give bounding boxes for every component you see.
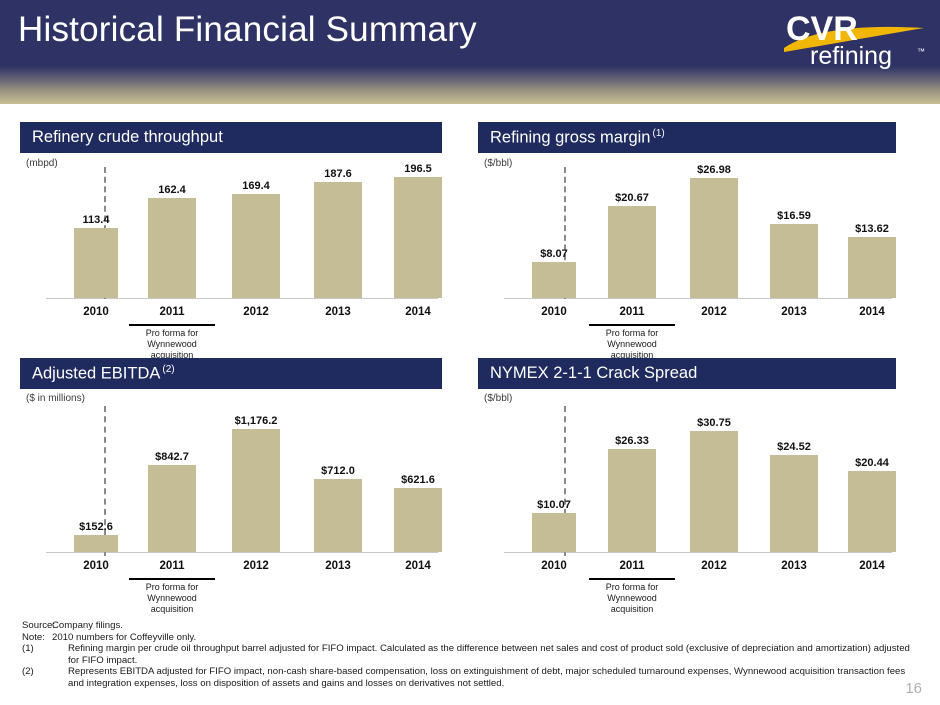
bar-value-label: $20.67 — [615, 192, 649, 204]
proforma-line: Pro forma for — [129, 328, 215, 339]
footnote-row: (1) Refining margin per crude oil throug… — [22, 643, 922, 666]
bar — [74, 228, 118, 298]
bar-group: $621.6 2014 — [378, 396, 458, 552]
category-label: 2014 — [405, 306, 431, 318]
proforma-line: Wynnewood — [129, 593, 215, 604]
bar-group: $26.98 2012 — [674, 160, 754, 298]
proforma-line: Wynnewood — [589, 339, 675, 350]
proforma-note: Pro forma for Wynnewood acquisition — [589, 578, 675, 615]
category-label: 2010 — [83, 560, 109, 572]
proforma-line: Pro forma for — [129, 582, 215, 593]
proforma-line: Wynnewood — [589, 593, 675, 604]
bar-value-label: $621.6 — [401, 474, 435, 486]
proforma-line: acquisition — [129, 604, 215, 615]
bar — [690, 178, 738, 298]
footnote-text: 2010 numbers for Coffeyville only. — [52, 632, 922, 644]
category-label: 2013 — [325, 306, 351, 318]
category-label: 2013 — [325, 560, 351, 572]
bar-value-label: $152.6 — [79, 521, 113, 533]
bar-group: $13.62 2014 — [832, 160, 912, 298]
svg-text:refining: refining — [810, 42, 892, 70]
category-label: 2010 — [83, 306, 109, 318]
chart-nymex-crack-spread: $10.07 2010 $26.33 2011 Pro forma for Wy… — [478, 396, 896, 596]
footnote-label: Note: — [22, 632, 52, 644]
proforma-line: Pro forma for — [589, 328, 675, 339]
bar-group: $842.7 2011 Pro forma for Wynnewood acqu… — [132, 396, 212, 552]
panel-title-refinery-crude-throughput: Refinery crude throughput — [20, 122, 442, 153]
chart-adjusted-ebitda: $152.6 2010 $842.7 2011 Pro forma for Wy… — [20, 396, 442, 596]
header-gradient-band — [0, 66, 940, 104]
bar-group: $16.59 2013 — [754, 160, 834, 298]
bar-group: $20.67 2011 Pro forma for Wynnewood acqu… — [592, 160, 672, 298]
bar — [770, 455, 818, 552]
footnote-row: Note: 2010 numbers for Coffeyville only. — [22, 632, 922, 644]
footnote-text: Represents EBITDA adjusted for FIFO impa… — [68, 666, 922, 689]
footnote-label: (1) — [22, 643, 68, 666]
bar-value-label: $13.62 — [855, 223, 889, 235]
bar — [608, 449, 656, 552]
bar — [394, 488, 442, 552]
panel-refining-gross-margin: Refining gross margin(1) — [478, 122, 896, 153]
panel-title-text: Adjusted EBITDA — [32, 365, 160, 383]
bar — [232, 194, 280, 298]
chart-refining-gross-margin: $8.07 2010 $20.67 2011 Pro forma for Wyn… — [478, 160, 896, 360]
bar-group: 169.4 2012 — [216, 160, 296, 298]
footnote-text: Company filings. — [52, 620, 922, 632]
bar-value-label: $712.0 — [321, 465, 355, 477]
panel-title-superscript: (2) — [162, 364, 174, 375]
bar-group: $1,176.2 2012 — [216, 396, 296, 552]
category-label: 2010 — [541, 560, 567, 572]
footnote-label: Source: — [22, 620, 52, 632]
category-label: 2013 — [781, 560, 807, 572]
bar-group: 196.5 2014 — [378, 160, 458, 298]
panel-adjusted-ebitda: Adjusted EBITDA(2) — [20, 358, 442, 389]
footnote-text: Refining margin per crude oil throughput… — [68, 643, 922, 666]
bar — [314, 182, 362, 298]
proforma-note: Pro forma for Wynnewood acquisition — [129, 324, 215, 361]
bar-value-label: $10.07 — [537, 499, 571, 511]
bar — [690, 431, 738, 552]
bar-group: $26.33 2011 Pro forma for Wynnewood acqu… — [592, 396, 672, 552]
proforma-note: Pro forma for Wynnewood acquisition — [589, 324, 675, 361]
bar — [314, 479, 362, 552]
proforma-line: Pro forma for — [589, 582, 675, 593]
cvr-refining-logo: CVR refining ™ — [780, 4, 928, 70]
bar — [608, 206, 656, 298]
category-label: 2011 — [620, 306, 645, 318]
category-label: 2012 — [243, 560, 269, 572]
bar-value-label: 113.4 — [83, 214, 110, 226]
bar — [532, 262, 576, 298]
category-label: 2011 — [160, 560, 185, 572]
panel-nymex-crack-spread: NYMEX 2-1-1 Crack Spread — [478, 358, 896, 389]
bar-value-label: 162.4 — [158, 184, 186, 196]
bar-value-label: $8.07 — [540, 248, 568, 260]
bar-group: $24.52 2013 — [754, 396, 834, 552]
bar — [232, 429, 280, 552]
bar — [848, 237, 896, 298]
x-axis-line — [504, 298, 892, 299]
panel-title-refining-gross-margin: Refining gross margin(1) — [478, 122, 896, 153]
bar-group: 162.4 2011 Pro forma for Wynnewood acqui… — [132, 160, 212, 298]
bar-value-label: $30.75 — [697, 417, 731, 429]
category-label: 2014 — [859, 560, 885, 572]
category-label: 2012 — [701, 560, 727, 572]
panel-refinery-crude-throughput: Refinery crude throughput — [20, 122, 442, 153]
bar-group: $8.07 2010 — [518, 160, 590, 298]
bar-group: $30.75 2012 — [674, 396, 754, 552]
bar-group: $10.07 2010 — [518, 396, 590, 552]
page-title: Historical Financial Summary — [18, 10, 477, 50]
proforma-line: acquisition — [589, 604, 675, 615]
category-label: 2011 — [620, 560, 645, 572]
category-label: 2012 — [243, 306, 269, 318]
page-number: 16 — [905, 680, 922, 697]
bar-group: $20.44 2014 — [832, 396, 912, 552]
bar-value-label: 169.4 — [242, 180, 270, 192]
category-label: 2012 — [701, 306, 727, 318]
footnote-row: Source: Company filings. — [22, 620, 922, 632]
bar-group: 113.4 2010 — [60, 160, 132, 298]
bar-value-label: $26.33 — [615, 435, 649, 447]
chart-refinery-crude-throughput: 113.4 2010 162.4 2011 Pro forma for Wynn… — [20, 160, 442, 360]
bar-value-label: $20.44 — [855, 457, 889, 469]
bar — [532, 513, 576, 552]
category-label: 2013 — [781, 306, 807, 318]
bar — [848, 471, 896, 552]
bar — [74, 535, 118, 552]
bar-value-label: 196.5 — [404, 163, 432, 175]
x-axis-line — [504, 552, 892, 553]
bar-group: $152.6 2010 — [60, 396, 132, 552]
panel-title-text: NYMEX 2-1-1 Crack Spread — [490, 364, 697, 382]
category-label: 2010 — [541, 306, 567, 318]
bar — [770, 224, 818, 298]
bar-value-label: $1,176.2 — [235, 415, 278, 427]
panel-title-text: Refining gross margin — [490, 129, 651, 147]
panel-title-text: Refinery crude throughput — [32, 128, 223, 146]
svg-text:™: ™ — [917, 47, 925, 56]
proforma-note: Pro forma for Wynnewood acquisition — [129, 578, 215, 615]
bar-value-label: $26.98 — [697, 164, 731, 176]
bar-value-label: $842.7 — [155, 451, 189, 463]
category-label: 2011 — [160, 306, 185, 318]
footnotes: Source: Company filings. Note: 2010 numb… — [22, 620, 922, 690]
bar-group: $712.0 2013 — [298, 396, 378, 552]
bar — [148, 465, 196, 552]
bar-value-label: $16.59 — [777, 210, 811, 222]
bar-group: 187.6 2013 — [298, 160, 378, 298]
bar-value-label: 187.6 — [324, 168, 352, 180]
footnote-row: (2) Represents EBITDA adjusted for FIFO … — [22, 666, 922, 689]
category-label: 2014 — [405, 560, 431, 572]
proforma-line: Wynnewood — [129, 339, 215, 350]
category-label: 2014 — [859, 306, 885, 318]
panel-title-nymex-crack-spread: NYMEX 2-1-1 Crack Spread — [478, 358, 896, 389]
footnote-label: (2) — [22, 666, 68, 689]
panel-title-superscript: (1) — [653, 128, 665, 139]
panel-title-adjusted-ebitda: Adjusted EBITDA(2) — [20, 358, 442, 389]
bar-value-label: $24.52 — [777, 441, 811, 453]
bar — [394, 177, 442, 298]
bar — [148, 198, 196, 298]
